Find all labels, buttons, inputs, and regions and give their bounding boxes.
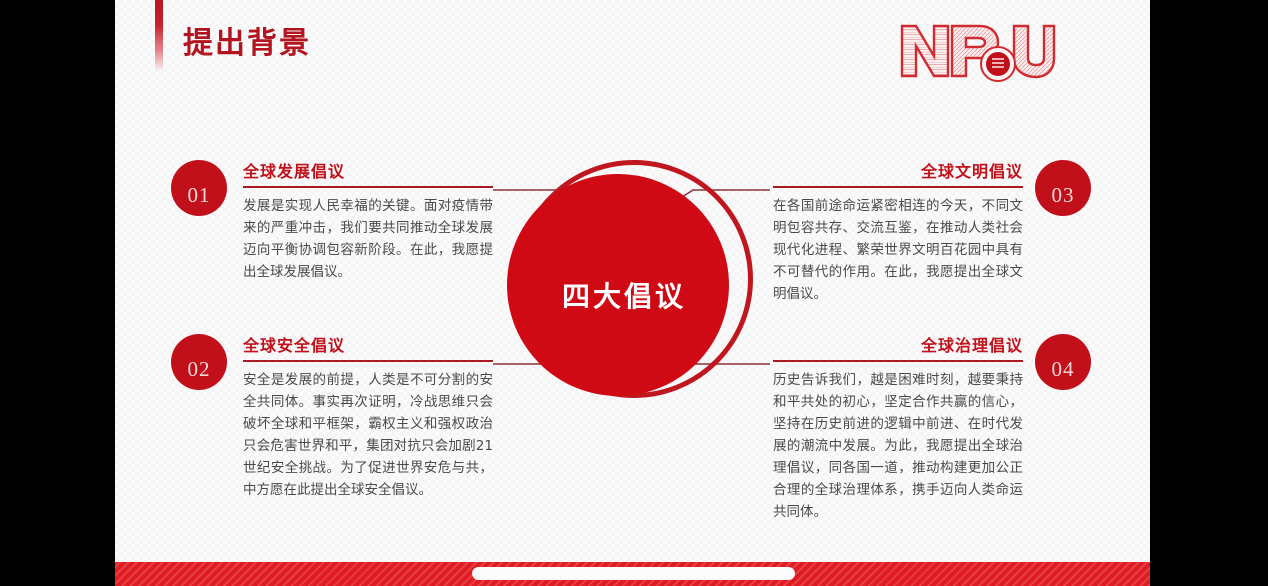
item-body: 历史告诉我们，越是困难时刻，越要秉持和平共处的初心，坚定合作共赢的信心，坚持在历… (773, 369, 1023, 523)
item-badge-03: 03 (1035, 160, 1091, 216)
item-block-02: 全球安全倡议 安全是发展的前提，人类是不可分割的安全共同体。事实再次证明，冷战思… (243, 332, 493, 501)
footer-bar (115, 562, 1150, 586)
npu-logo (898, 12, 1058, 84)
presentation-slide: 提出背景 (115, 0, 1150, 586)
item-body: 安全是发展的前提，人类是不可分割的安全共同体。事实再次证明，冷战思维只会破坏全球… (243, 369, 493, 501)
slide-viewer: 提出背景 (0, 0, 1268, 586)
item-block-01: 全球发展倡议 发展是实现人民幸福的关键。面对疫情带来的严重冲击，我们要共同推动全… (243, 158, 493, 283)
item-rule (243, 360, 493, 362)
badge-number: 02 (188, 357, 211, 382)
footer-notch (472, 567, 795, 580)
item-body: 发展是实现人民幸福的关键。面对疫情带来的严重冲击，我们要共同推动全球发展迈向平衡… (243, 195, 493, 283)
item-badge-01: 01 (171, 160, 227, 216)
item-heading: 全球文明倡议 (773, 158, 1023, 182)
item-heading: 全球安全倡议 (243, 332, 493, 356)
item-heading: 全球发展倡议 (243, 158, 493, 182)
item-rule (773, 360, 1023, 362)
badge-number: 04 (1052, 357, 1075, 382)
item-badge-02: 02 (171, 334, 227, 390)
item-body: 在各国前途命运紧密相连的今天，不同文明包容共存、交流互鉴，在推动人类社会现代化进… (773, 195, 1023, 305)
badge-number: 01 (188, 183, 211, 208)
item-rule (773, 186, 1023, 188)
item-block-04: 全球治理倡议 历史告诉我们，越是困难时刻，越要秉持和平共处的初心，坚定合作共赢的… (773, 332, 1023, 523)
page-title: 提出背景 (183, 18, 311, 62)
center-circle: 四大倡议 (507, 156, 767, 416)
center-circle-disc: 四大倡议 (507, 174, 729, 396)
item-heading: 全球治理倡议 (773, 332, 1023, 356)
badge-number: 03 (1052, 183, 1075, 208)
item-badge-04: 04 (1035, 334, 1091, 390)
item-rule (243, 186, 493, 188)
item-block-03: 全球文明倡议 在各国前途命运紧密相连的今天，不同文明包容共存、交流互鉴，在推动人… (773, 158, 1023, 305)
center-circle-label: 四大倡议 (562, 275, 686, 315)
title-accent-bar (155, 0, 163, 72)
